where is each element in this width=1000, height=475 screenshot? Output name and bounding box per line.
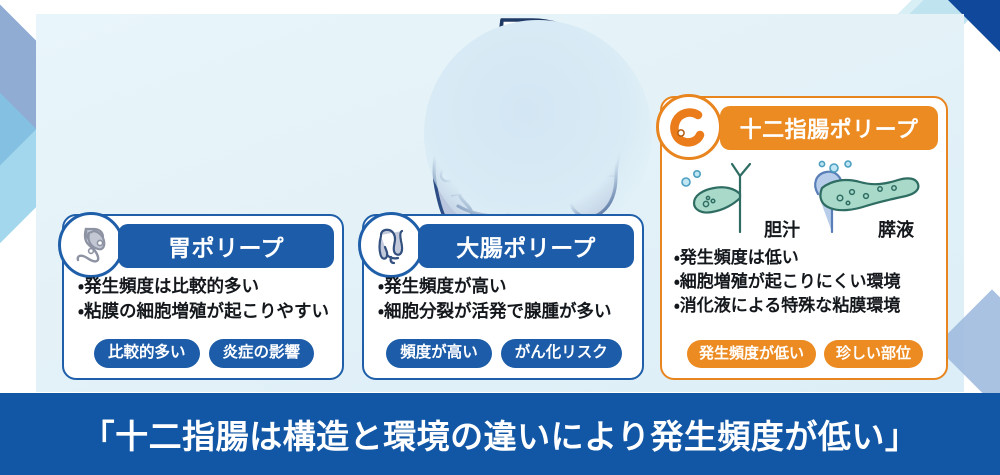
bubble <box>682 171 700 186</box>
tag-pill[interactable]: 頻度が高い <box>386 339 492 368</box>
bottom-banner: 「十二指腸は構造と環境の違いにより発生頻度が低い」 <box>0 393 1000 475</box>
card-pills-colon: 頻度が高い がん化リスク <box>376 339 632 368</box>
bullet-item: 発生頻度は比較的多い <box>78 274 332 299</box>
colon-icon <box>358 212 424 278</box>
bullet-item: 細胞分裂が活発で腺腫が多い <box>378 299 632 324</box>
bullet-item: 粘膜の細胞増殖が起こりやすい <box>78 299 332 324</box>
card-title-duodenum: 十二指腸ポリープ <box>720 106 938 150</box>
bubble <box>819 161 851 172</box>
tag-pill[interactable]: 炎症の影響 <box>209 339 315 368</box>
card-stomach-polyp: 胃ポリープ 発生頻度は比較的多い 粘膜の細胞増殖が起こりやすい 比較的多い 炎症… <box>62 214 344 380</box>
stomach-icon <box>58 212 124 278</box>
card-pills-duodenum: 発生頻度が低い 珍しい部位 <box>674 340 936 368</box>
label-bile: 胆汁 <box>764 216 800 242</box>
tag-pill[interactable]: がん化リスク <box>501 339 622 368</box>
card-title-colon: 大腸ポリープ <box>418 224 634 268</box>
banner-text: 「十二指腸は構造と環境の違いにより発生頻度が低い」 <box>82 410 919 458</box>
bullet-item: 消化液による特殊な粘膜環境 <box>674 294 936 318</box>
label-pancreas: 膵液 <box>878 216 914 242</box>
tag-pill[interactable]: 珍しい部位 <box>824 340 923 368</box>
bullet-item: 発生頻度は低い <box>674 246 936 270</box>
tag-pill[interactable]: 発生頻度が低い <box>687 340 816 368</box>
card-bullets-stomach: 発生頻度は比較的多い 粘膜の細胞増殖が起こりやすい <box>78 274 332 324</box>
card-colon-polyp: 大腸ポリープ 発生頻度が高い 細胞分裂が活発で腺腫が多い 頻度が高い がん化リス… <box>362 214 644 380</box>
bullet-item: 細胞増殖が起こりにくい環境 <box>674 270 936 294</box>
digestive-fluids-illustration: 胆汁 膵液 <box>670 160 942 246</box>
card-pills-stomach: 比較的多い 炎症の影響 <box>76 339 332 368</box>
card-duodenum-polyp: 十二指腸ポリープ <box>660 96 948 380</box>
card-bullets-duodenum: 発生頻度は低い 細胞増殖が起こりにくい環境 消化液による特殊な粘膜環境 <box>674 246 936 318</box>
tag-pill[interactable]: 比較的多い <box>94 339 200 368</box>
card-title-stomach: 胃ポリープ <box>118 224 334 268</box>
infographic-root: 胃ポリープ 発生頻度は比較的多い 粘膜の細胞増殖が起こりやすい 比較的多い 炎症… <box>0 0 1000 475</box>
bullet-item: 発生頻度が高い <box>378 274 632 299</box>
card-bullets-colon: 発生頻度が高い 細胞分裂が活発で腺腫が多い <box>378 274 632 324</box>
duodenum-icon <box>656 94 722 160</box>
